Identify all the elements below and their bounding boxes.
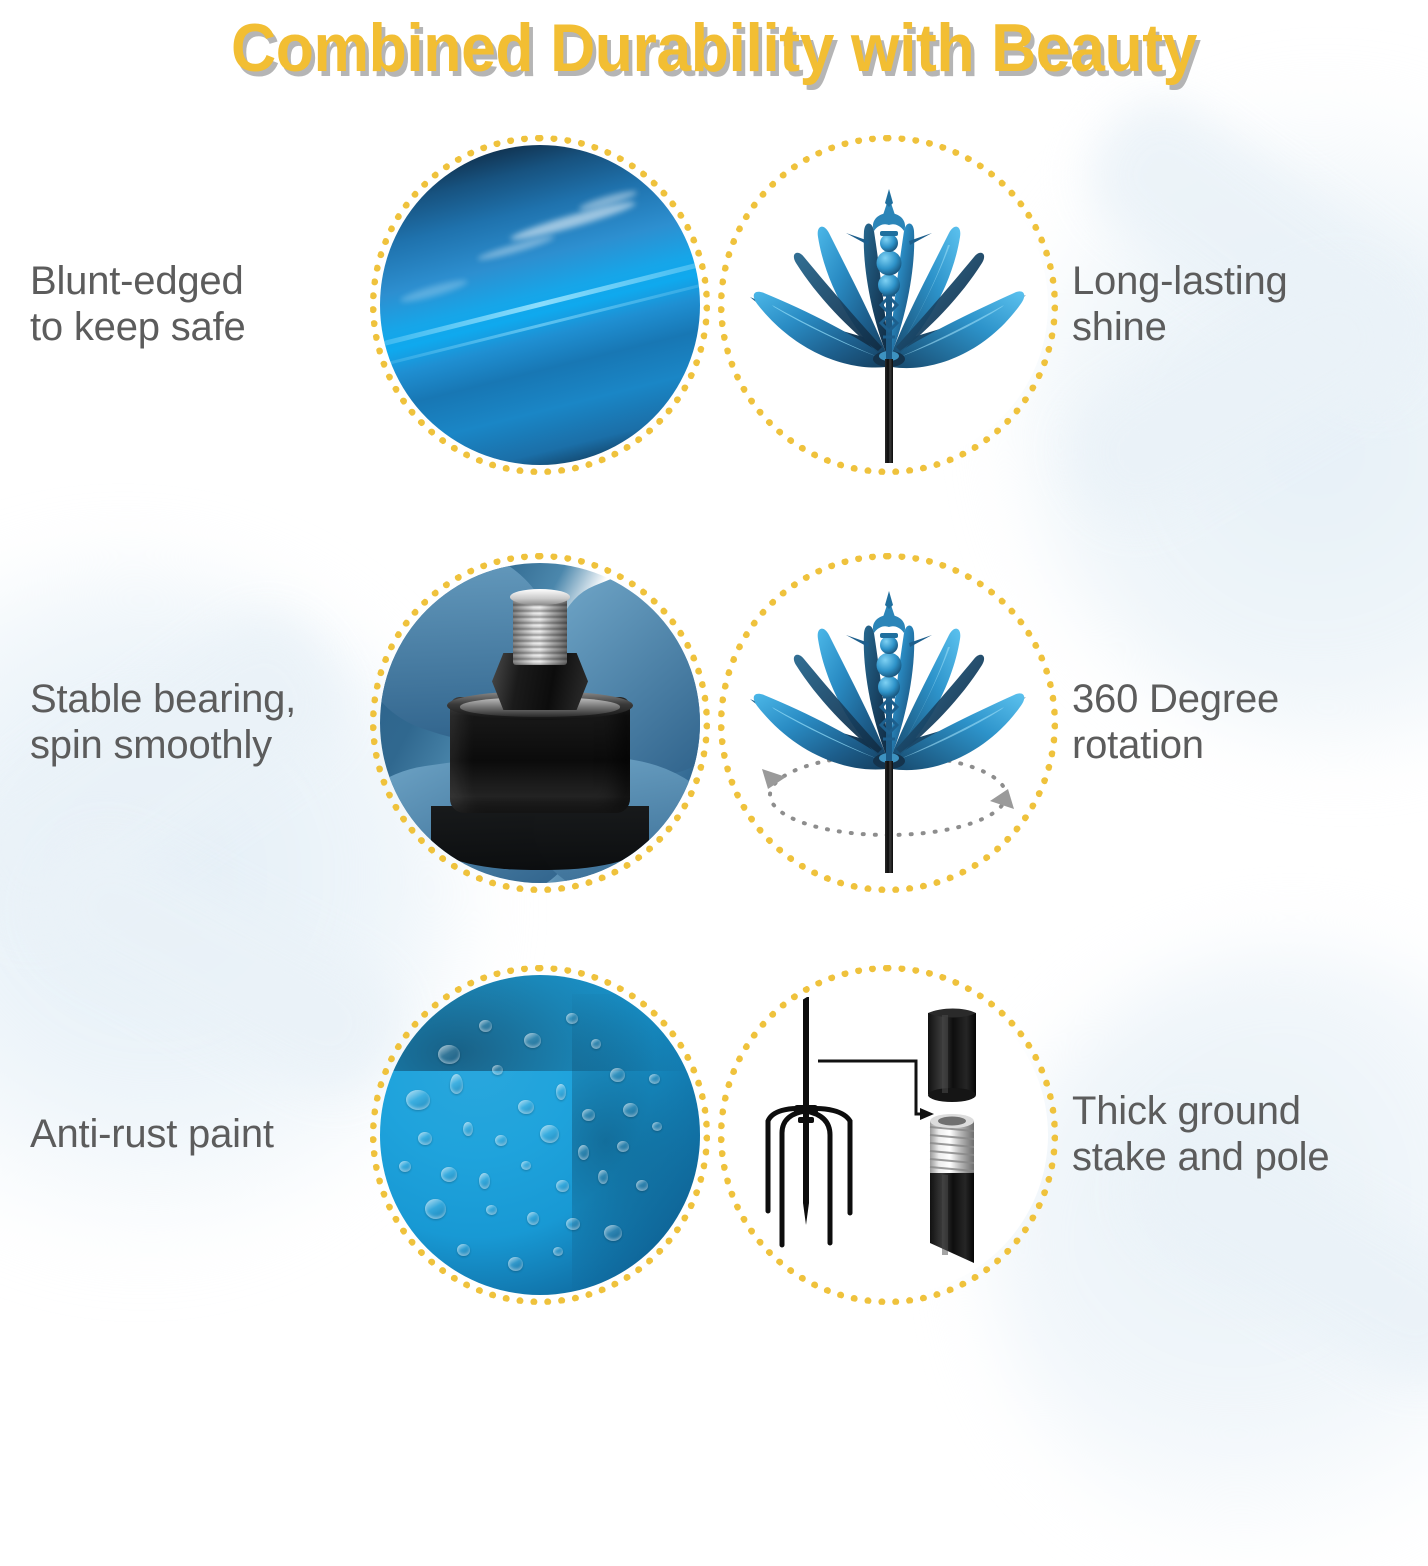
- feature-row: Blunt-edged to keep safe: [0, 95, 1428, 515]
- wind-spinner-illustration: [728, 145, 1048, 465]
- feature-caption: Thick ground stake and pole: [1072, 1089, 1402, 1180]
- feature-row: Stable bearing, spin smoothly: [0, 513, 1428, 933]
- feature-caption: Stable bearing, spin smoothly: [30, 677, 360, 768]
- feature-item-stable-bearing: Stable bearing, spin smoothly: [0, 513, 714, 933]
- feature-caption: Blunt-edged to keep safe: [30, 259, 360, 350]
- feature-grid: Blunt-edged to keep safe: [0, 95, 1428, 1356]
- title-bar: Combined Durability with Beauty: [0, 0, 1428, 95]
- bearing-closeup-photo: [380, 563, 700, 883]
- feature-item-anti-rust-paint: Anti-rust paint: [0, 925, 714, 1345]
- feature-caption: Long-lasting shine: [1072, 259, 1402, 350]
- blue-blade-edge-photo: [380, 145, 700, 465]
- dotted-circle-frame: [370, 135, 710, 475]
- feature-item-blunt-edged: Blunt-edged to keep safe: [0, 95, 714, 515]
- dotted-circle-frame: [370, 965, 710, 1305]
- dotted-circle-frame: [718, 965, 1058, 1305]
- feature-item-long-lasting-shine: Long-lasting shine: [714, 95, 1428, 515]
- water-droplets-photo: [380, 975, 700, 1295]
- page-title: Combined Durability with Beauty: [231, 14, 1197, 82]
- dotted-circle-frame: [718, 553, 1058, 893]
- dotted-circle-frame: [718, 135, 1058, 475]
- ground-stake-and-pole-illustration: [728, 975, 1048, 1295]
- feature-item-thick-ground-stake: Thick ground stake and pole: [714, 925, 1428, 1345]
- feature-caption: Anti-rust paint: [30, 1112, 360, 1158]
- feature-caption: 360 Degree rotation: [1072, 677, 1402, 768]
- wind-spinner-rotation-illustration: [728, 563, 1048, 883]
- feature-item-360-rotation: 360 Degree rotation: [714, 513, 1428, 933]
- dotted-circle-frame: [370, 553, 710, 893]
- feature-row: Anti-rust paint: [0, 925, 1428, 1345]
